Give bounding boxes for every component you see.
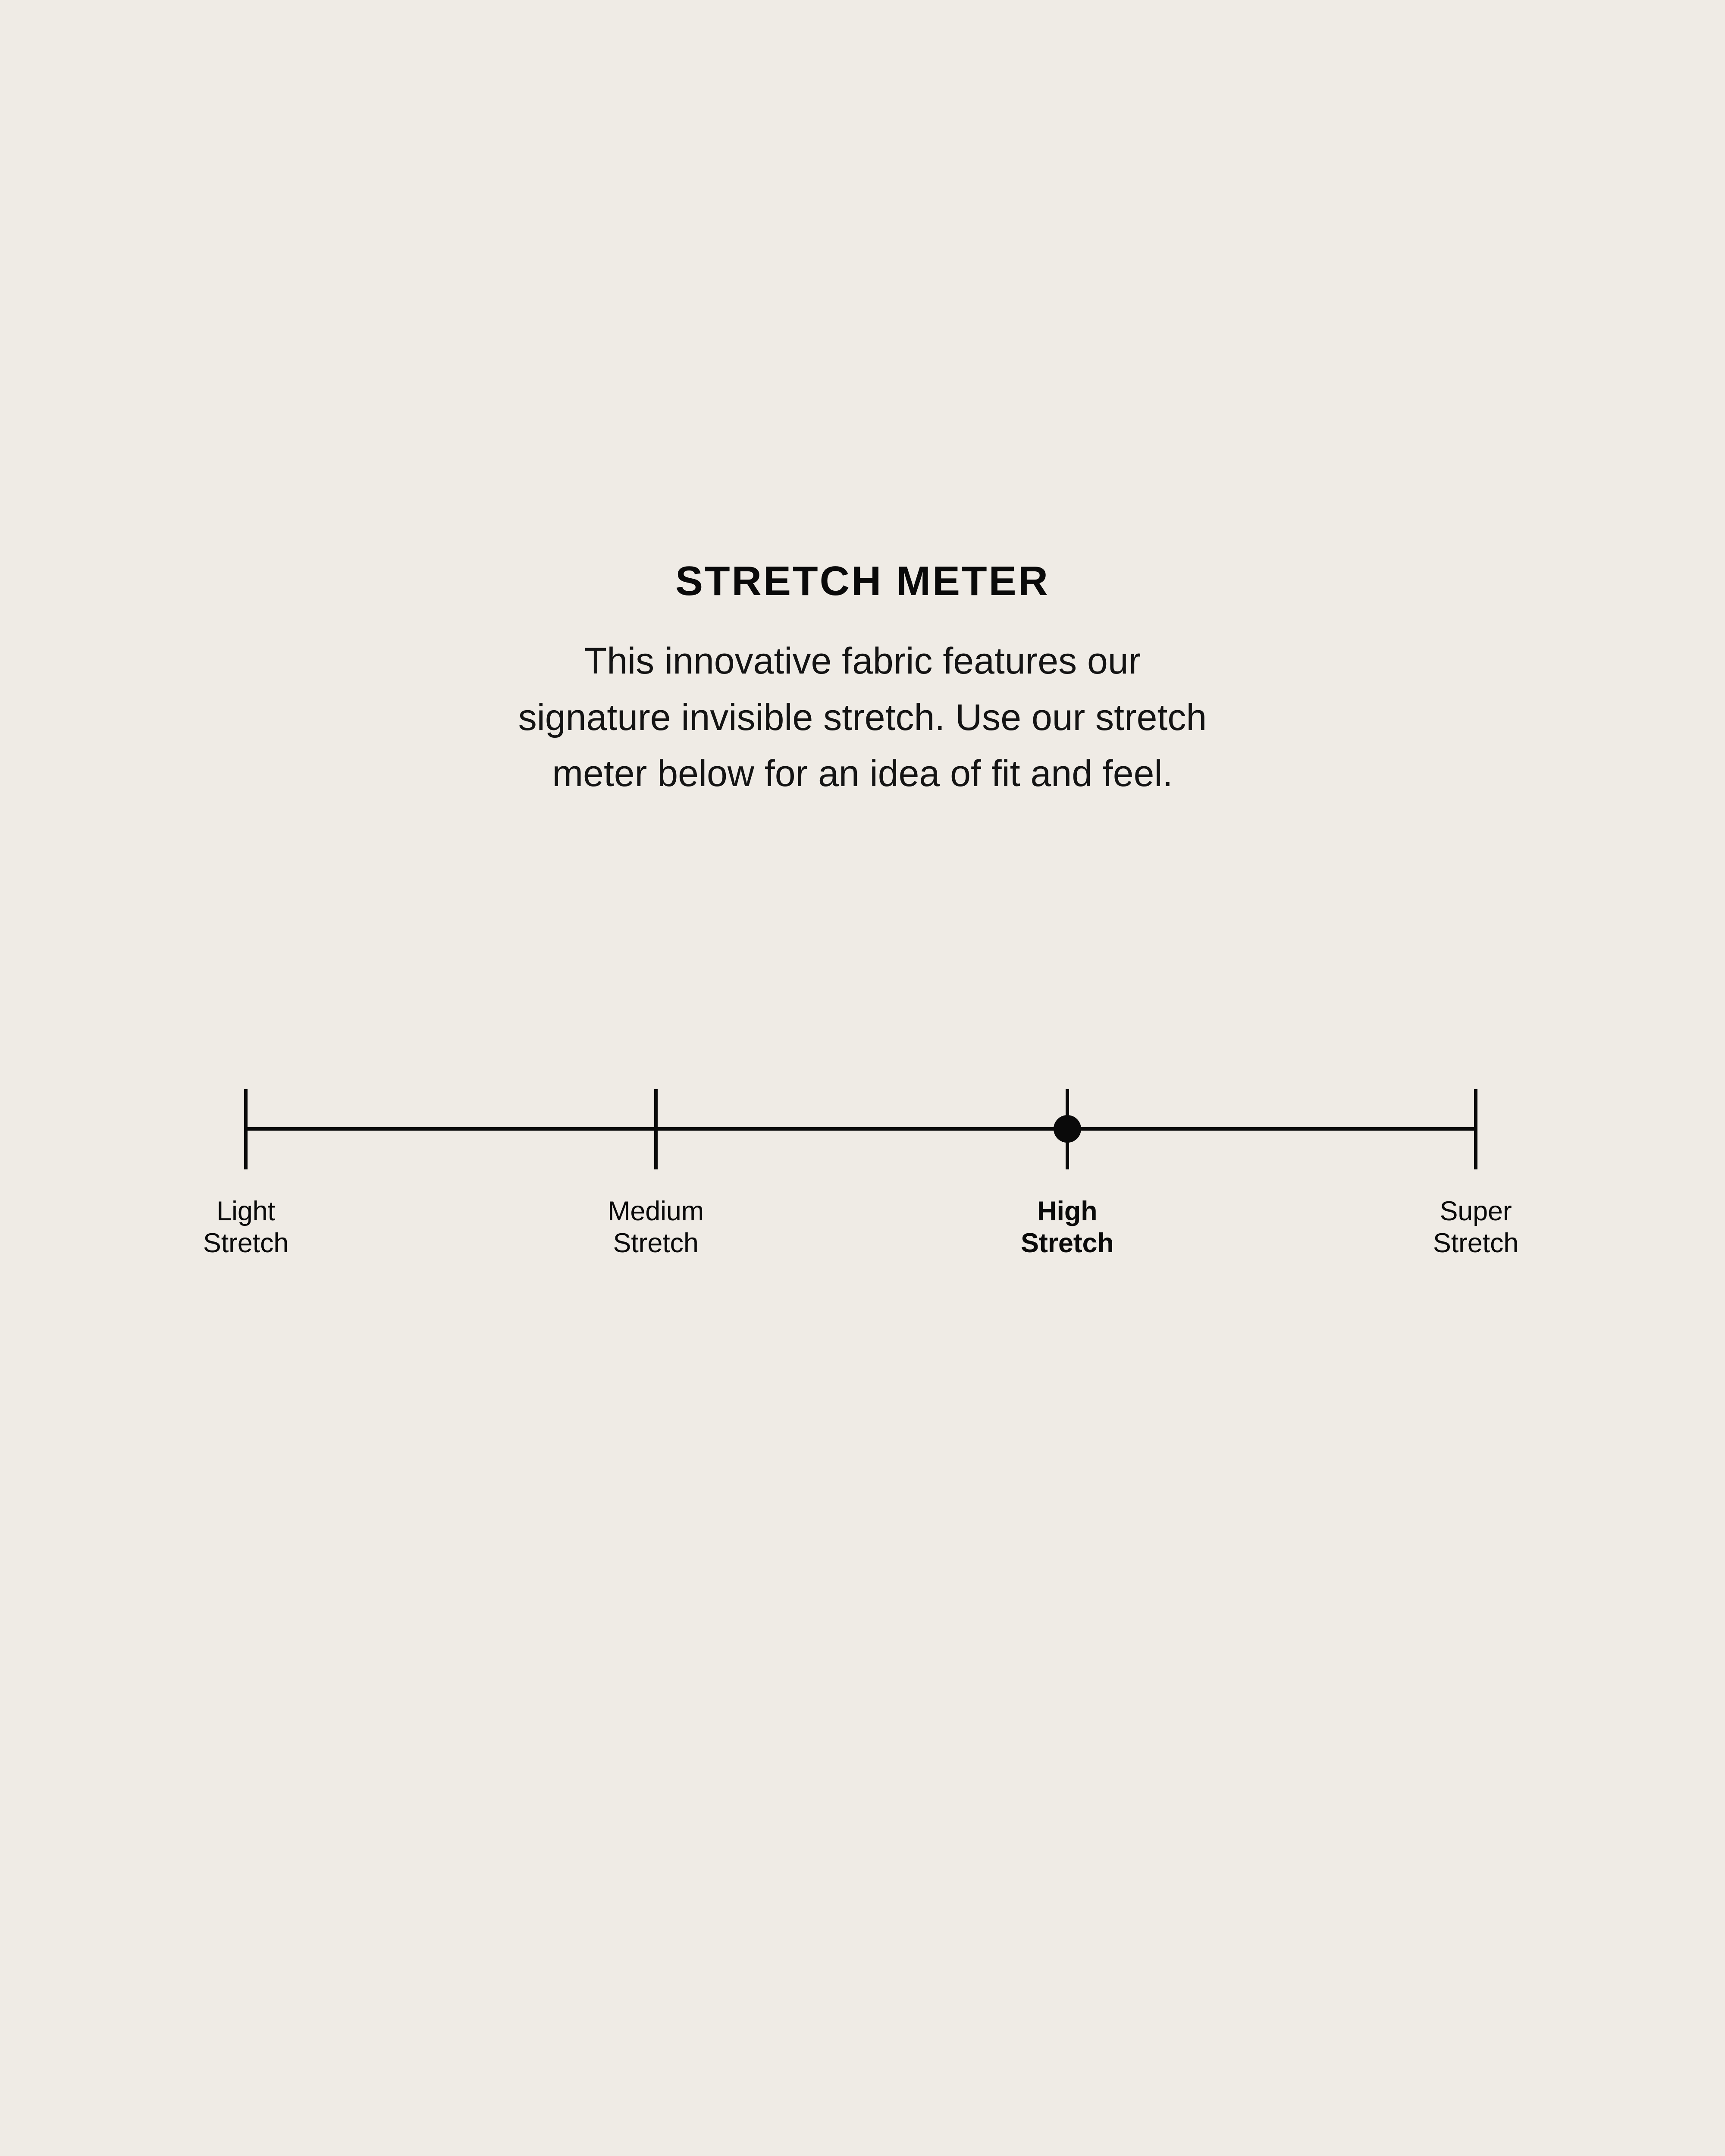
meter-label-super[interactable]: Super Stretch (1325, 1195, 1627, 1260)
meter-label-light-line2: Stretch (95, 1227, 397, 1259)
meter-label-high-line2: Stretch (916, 1227, 1218, 1259)
meter-label-light-line1: Light (95, 1195, 397, 1227)
meter-label-light[interactable]: Light Stretch (95, 1195, 397, 1260)
meter-tick-medium[interactable] (654, 1089, 658, 1169)
description-line: signature invisible stretch. Use our str… (323, 689, 1402, 746)
meter-label-medium-line1: Medium (505, 1195, 807, 1227)
meter-label-medium-line2: Stretch (505, 1227, 807, 1259)
meter-label-row: Light Stretch Medium Stretch High Stretc… (246, 1195, 1476, 1307)
description-line: This innovative fabric features our (323, 633, 1402, 689)
heading-block: STRETCH METER This innovative fabric fea… (0, 561, 1725, 802)
description-line: meter below for an idea of fit and feel. (323, 746, 1402, 802)
meter-axis-line (246, 1127, 1476, 1131)
stretch-meter-panel: STRETCH METER This innovative fabric fea… (0, 0, 1725, 2156)
stretch-meter-scale[interactable] (246, 1089, 1476, 1171)
meter-label-super-line2: Stretch (1325, 1227, 1627, 1259)
meter-label-medium[interactable]: Medium Stretch (505, 1195, 807, 1260)
meter-tick-light[interactable] (244, 1089, 248, 1169)
meter-value-marker-dot[interactable] (1054, 1115, 1081, 1143)
panel-description: This innovative fabric features our sign… (323, 633, 1402, 802)
meter-tick-super[interactable] (1474, 1089, 1477, 1169)
page-title: STRETCH METER (0, 561, 1725, 602)
meter-label-high[interactable]: High Stretch (916, 1195, 1218, 1260)
meter-label-high-line1: High (916, 1195, 1218, 1227)
meter-label-super-line1: Super (1325, 1195, 1627, 1227)
